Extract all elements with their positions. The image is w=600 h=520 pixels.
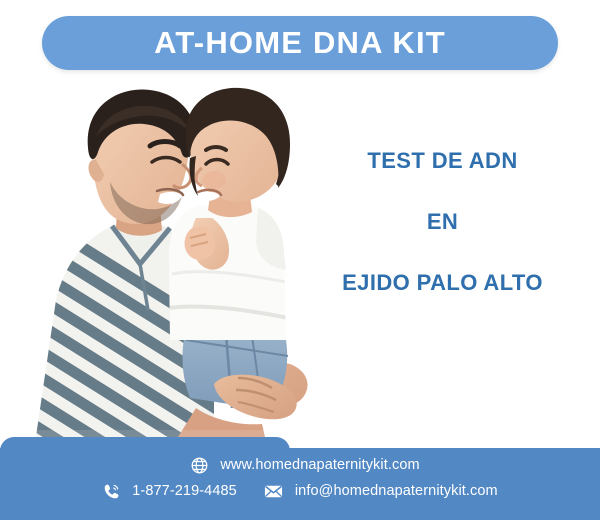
headline-line-3: EJIDO PALO ALTO [310, 272, 575, 294]
headline-panel: TEST DE ADN EN EJIDO PALO ALTO [310, 150, 575, 294]
family-photo-illustration [0, 78, 330, 450]
footer-row-website: www.homednapaternitykit.com [180, 456, 419, 475]
footer-phone[interactable]: 1-877-219-4485 [102, 482, 237, 501]
phone-icon [102, 482, 121, 501]
footer-website[interactable]: www.homednapaternitykit.com [190, 456, 419, 475]
headline-line-1: TEST DE ADN [310, 150, 575, 172]
promo-banner: AT-HOME DNA KIT [0, 0, 600, 520]
headline-line-2: EN [310, 211, 575, 233]
globe-icon [190, 456, 209, 475]
header-badge: AT-HOME DNA KIT [42, 16, 558, 70]
footer-row-contact: 1-877-219-4485 info@homednapaternitykit.… [102, 481, 498, 502]
footer-bar: www.homednapaternitykit.com 1-877-219-44… [0, 437, 600, 520]
footer-email-label: info@homednapaternitykit.com [295, 483, 498, 499]
footer-phone-label: 1-877-219-4485 [132, 483, 237, 499]
footer-content: www.homednapaternitykit.com 1-877-219-44… [0, 437, 600, 520]
header-badge-label: AT-HOME DNA KIT [154, 25, 446, 61]
footer-website-label: www.homednapaternitykit.com [220, 457, 419, 473]
envelope-icon [263, 481, 284, 502]
footer-email[interactable]: info@homednapaternitykit.com [263, 481, 498, 502]
family-photo [0, 78, 330, 450]
